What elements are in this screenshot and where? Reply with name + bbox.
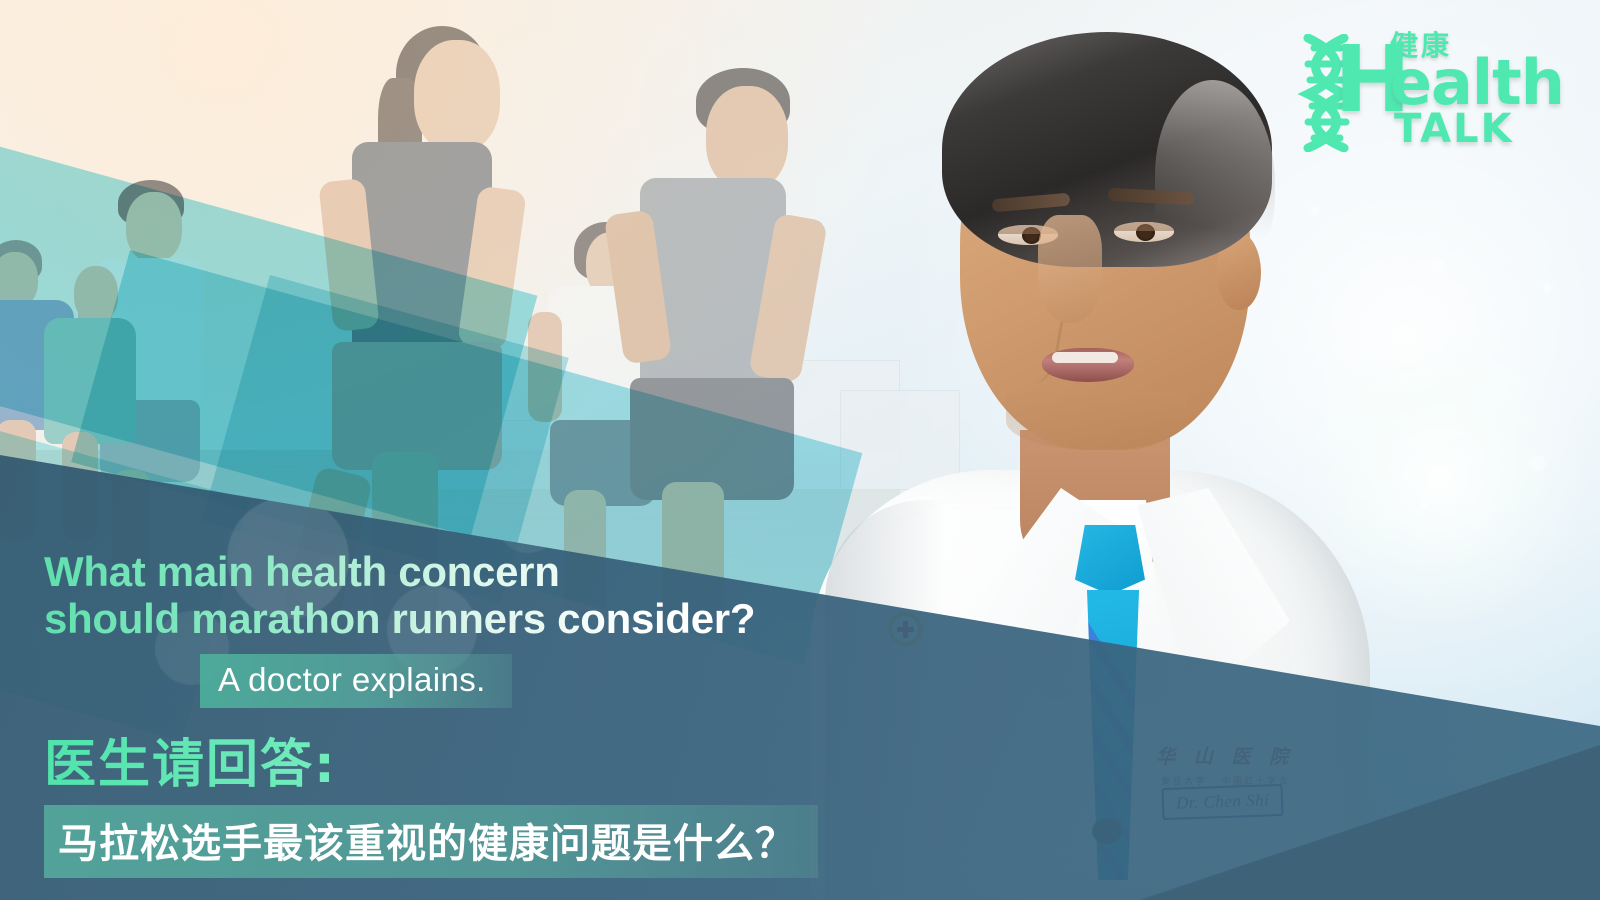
chin	[1006, 392, 1186, 450]
bokeh-dot	[1420, 500, 1429, 509]
teeth	[1052, 352, 1118, 363]
headline-chinese-title: 医生请回答:	[44, 722, 964, 797]
logo-ealth-text: ealth	[1390, 52, 1564, 114]
subtitle-text: A doctor explains.	[218, 661, 486, 698]
bokeh-dot	[1430, 258, 1444, 272]
bokeh-dot	[1530, 455, 1546, 471]
chinese-question-bar: 马拉松选手最该重视的健康问题是什么？	[44, 805, 818, 878]
poster-canvas: 华 山 医 院 复旦大学 · 中国红十字会 Dr. Chen Shi What …	[0, 0, 1600, 900]
bokeh-dot	[1542, 283, 1552, 293]
subtitle-bar: A doctor explains.	[200, 654, 512, 708]
logo-talk-text: TALK	[1394, 106, 1514, 152]
nose	[1038, 215, 1102, 323]
headline-block: What main health concern should marathon…	[44, 548, 964, 878]
eye	[1114, 222, 1174, 242]
headline-english: What main health concern should marathon…	[44, 548, 964, 642]
health-talk-logo[interactable]: 健康 H ealth TALK	[1282, 22, 1522, 152]
chinese-question-text: 马拉松选手最该重视的健康问题是什么？	[58, 821, 796, 867]
